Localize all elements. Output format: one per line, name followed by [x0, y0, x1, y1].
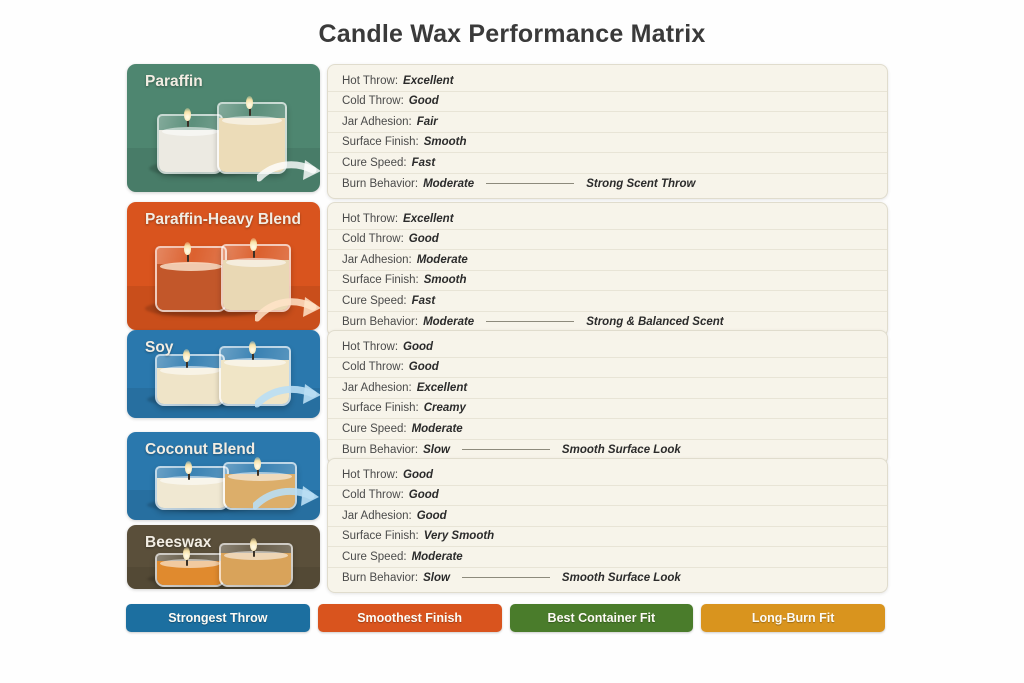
- attribute-value: Good: [409, 95, 439, 107]
- attribute-row-burn-behavior: Burn Behavior: Slow Smooth Surface Look: [328, 440, 887, 461]
- attribute-value: Very Smooth: [424, 530, 495, 542]
- attribute-row: Jar Adhesion: Excellent: [328, 378, 887, 399]
- attribute-row: Cold Throw: Good: [328, 92, 887, 113]
- attribute-key: Burn Behavior:: [342, 178, 418, 190]
- candle-wick-right: [249, 108, 251, 116]
- legend-button-label: Smoothest Finish: [357, 611, 462, 625]
- attribute-key: Cold Throw:: [342, 95, 404, 107]
- detail-panel-soy: Hot Throw: Good Cold Throw: Good Jar Adh…: [327, 330, 888, 465]
- wax-meniscus: [224, 358, 286, 367]
- wax-meniscus: [222, 116, 282, 125]
- attribute-key: Cure Speed:: [342, 423, 407, 435]
- attribute-row: Cure Speed: Fast: [328, 291, 887, 312]
- wax-meniscus: [224, 551, 288, 560]
- callout-label: Strong Scent Throw: [586, 178, 695, 190]
- wax-tile-label: Soy: [145, 339, 173, 357]
- attribute-row: Hot Throw: Good: [328, 465, 887, 486]
- attribute-value: Good: [403, 469, 433, 481]
- candle-jar-left: [157, 114, 223, 174]
- attribute-key: Surface Finish:: [342, 136, 419, 148]
- attribute-row: Surface Finish: Smooth: [328, 271, 887, 292]
- legend-button-label: Strongest Throw: [168, 611, 267, 625]
- attribute-row: Surface Finish: Very Smooth: [328, 527, 887, 548]
- flow-arrow-icon: [255, 294, 320, 324]
- legend-bar: Strongest Throw Smoothest Finish Best Co…: [126, 604, 885, 632]
- candle-flame-right: [250, 238, 257, 251]
- attribute-value: Moderate: [423, 316, 474, 328]
- legend-button-long-burn-fit[interactable]: Long-Burn Fit: [701, 604, 885, 632]
- wax-meniscus: [160, 559, 220, 568]
- legend-button-label: Long-Burn Fit: [752, 611, 835, 625]
- attribute-row: Surface Finish: Creamy: [328, 399, 887, 420]
- attribute-value: Good: [403, 341, 433, 353]
- attribute-key: Cold Throw:: [342, 489, 404, 501]
- attribute-key: Jar Adhesion:: [342, 382, 412, 394]
- attribute-key: Surface Finish:: [342, 274, 419, 286]
- attribute-key: Burn Behavior:: [342, 572, 418, 584]
- candle-jar-right: [219, 543, 293, 587]
- attribute-key: Cure Speed:: [342, 295, 407, 307]
- attribute-value: Excellent: [403, 213, 454, 225]
- callout-leader-line: [462, 577, 550, 578]
- wax-meniscus: [228, 472, 292, 481]
- attribute-key: Cure Speed:: [342, 551, 407, 563]
- wax-tile-soy[interactable]: Soy: [127, 330, 320, 418]
- flow-arrow-icon: [253, 484, 320, 512]
- attribute-value: Moderate: [412, 423, 463, 435]
- attribute-key: Burn Behavior:: [342, 316, 418, 328]
- attribute-row: Jar Adhesion: Good: [328, 506, 887, 527]
- legend-button-label: Best Container Fit: [548, 611, 656, 625]
- attribute-value: Slow: [423, 444, 450, 456]
- attribute-row-burn-behavior: Burn Behavior: Moderate Strong & Balance…: [328, 312, 887, 333]
- attribute-row-burn-behavior: Burn Behavior: Moderate Strong Scent Thr…: [328, 174, 887, 195]
- attribute-key: Jar Adhesion:: [342, 510, 412, 522]
- wax-fill: [159, 130, 221, 172]
- candle-jar-left: [155, 354, 225, 406]
- wax-meniscus: [226, 258, 286, 267]
- callout-leader-line: [462, 449, 550, 450]
- callout-leader-line: [486, 183, 574, 184]
- attribute-key: Cold Throw:: [342, 233, 404, 245]
- attribute-row: Cure Speed: Fast: [328, 153, 887, 174]
- attribute-key: Hot Throw:: [342, 469, 398, 481]
- flow-arrow-icon: [257, 158, 320, 186]
- callout-label: Strong & Balanced Scent: [586, 316, 723, 328]
- attribute-row: Cold Throw: Good: [328, 358, 887, 379]
- wax-tile-label: Coconut Blend: [145, 441, 255, 459]
- attribute-key: Jar Adhesion:: [342, 254, 412, 266]
- callout-leader-line: [486, 321, 574, 322]
- attribute-value: Creamy: [424, 402, 466, 414]
- callout-label: Smooth Surface Look: [562, 444, 681, 456]
- candle-jar-left: [155, 553, 225, 587]
- attribute-key: Cure Speed:: [342, 157, 407, 169]
- detail-panel-paraffin-heavy-blend: Hot Throw: Excellent Cold Throw: Good Ja…: [327, 202, 888, 337]
- attribute-row: Hot Throw: Excellent: [328, 209, 887, 230]
- attribute-row: Jar Adhesion: Fair: [328, 112, 887, 133]
- candle-flame-left: [183, 349, 190, 362]
- wax-tile-paraffin[interactable]: Paraffin: [127, 64, 320, 192]
- attribute-value: Excellent: [403, 75, 454, 87]
- attribute-value: Moderate: [412, 551, 463, 563]
- wax-tile-label: Paraffin: [145, 73, 203, 91]
- attribute-key: Cold Throw:: [342, 361, 404, 373]
- candle-wick-right: [253, 250, 255, 258]
- attribute-key: Hot Throw:: [342, 75, 398, 87]
- flow-arrow-icon: [255, 382, 320, 410]
- attribute-row: Cold Throw: Good: [328, 230, 887, 251]
- attribute-value: Good: [409, 361, 439, 373]
- wax-meniscus: [160, 366, 220, 375]
- attribute-row: Cure Speed: Moderate: [328, 547, 887, 568]
- candle-jar-left: [155, 246, 227, 312]
- attribute-key: Jar Adhesion:: [342, 116, 412, 128]
- wax-tile-label: Beeswax: [145, 534, 211, 552]
- attribute-key: Burn Behavior:: [342, 444, 418, 456]
- detail-panel-coconut-blend: Hot Throw: Good Cold Throw: Good Jar Adh…: [327, 458, 888, 593]
- attribute-value: Slow: [423, 572, 450, 584]
- attribute-key: Hot Throw:: [342, 341, 398, 353]
- attribute-key: Surface Finish:: [342, 402, 419, 414]
- candle-wick-left: [187, 254, 189, 262]
- attribute-value: Smooth: [424, 136, 467, 148]
- candle-flame-left: [184, 108, 191, 121]
- wax-tile-coconut-blend[interactable]: Coconut Blend: [127, 432, 320, 520]
- candle-flame-right: [246, 96, 253, 109]
- attribute-row: Hot Throw: Good: [328, 337, 887, 358]
- page-title: Candle Wax Performance Matrix: [0, 20, 1024, 49]
- attribute-value: Fast: [412, 295, 436, 307]
- attribute-value: Excellent: [417, 382, 468, 394]
- wax-tile-label: Paraffin-Heavy Blend: [145, 211, 301, 229]
- candle-flame-right: [249, 341, 256, 354]
- wax-meniscus: [160, 476, 224, 485]
- candle-flame-left: [184, 242, 191, 255]
- attribute-key: Surface Finish:: [342, 530, 419, 542]
- attribute-row: Cold Throw: Good: [328, 486, 887, 507]
- wax-tile-beeswax[interactable]: Beeswax: [127, 525, 320, 589]
- candle-flame-left: [185, 461, 192, 474]
- legend-button-best-container-fit[interactable]: Best Container Fit: [510, 604, 694, 632]
- attribute-value: Good: [409, 489, 439, 501]
- candle-jar-left: [155, 466, 229, 510]
- attribute-key: Hot Throw:: [342, 213, 398, 225]
- wax-meniscus: [160, 262, 222, 271]
- attribute-value: Moderate: [423, 178, 474, 190]
- attribute-value: Smooth: [424, 274, 467, 286]
- attribute-value: Good: [417, 510, 447, 522]
- attribute-row: Cure Speed: Moderate: [328, 419, 887, 440]
- detail-panel-paraffin: Hot Throw: Excellent Cold Throw: Good Ja…: [327, 64, 888, 199]
- attribute-value: Good: [409, 233, 439, 245]
- attribute-row: Hot Throw: Excellent: [328, 71, 887, 92]
- callout-label: Smooth Surface Look: [562, 572, 681, 584]
- wax-tile-paraffin-heavy-blend[interactable]: Paraffin-Heavy Blend: [127, 202, 320, 330]
- attribute-row-burn-behavior: Burn Behavior: Slow Smooth Surface Look: [328, 568, 887, 589]
- legend-button-smoothest-finish[interactable]: Smoothest Finish: [318, 604, 502, 632]
- attribute-row: Jar Adhesion: Moderate: [328, 250, 887, 271]
- attribute-value: Fair: [417, 116, 438, 128]
- candle-flame-right: [250, 538, 257, 551]
- attribute-row: Surface Finish: Smooth: [328, 133, 887, 154]
- attribute-value: Fast: [412, 157, 436, 169]
- attribute-value: Moderate: [417, 254, 468, 266]
- legend-button-strongest-throw[interactable]: Strongest Throw: [126, 604, 310, 632]
- wax-meniscus: [162, 127, 218, 136]
